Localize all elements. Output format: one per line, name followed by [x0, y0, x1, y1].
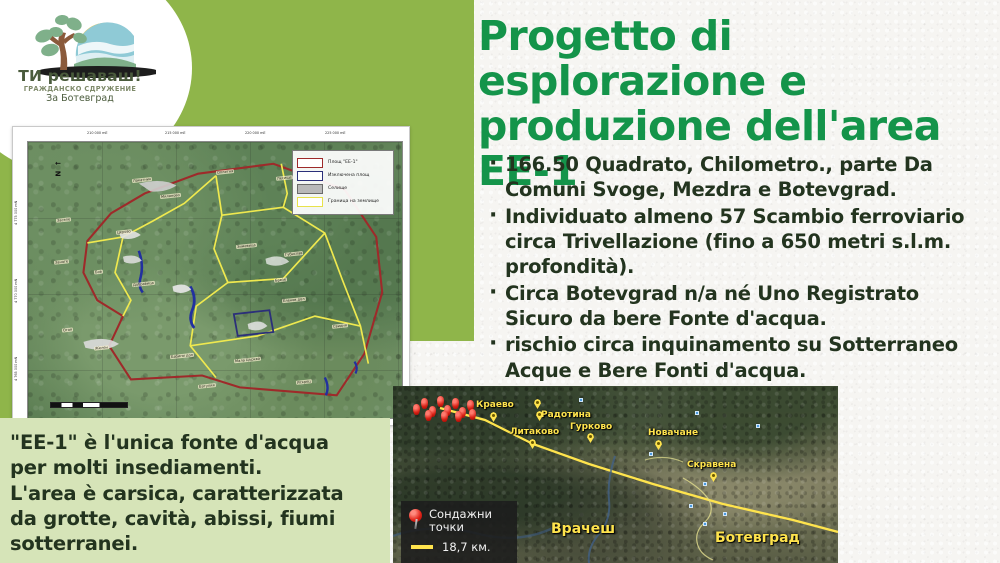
logo-title: ТИ решаваш!: [10, 68, 150, 84]
topographic-map[interactable]: 210 000 mE 215 000 mE 220 000 mE 225 000…: [12, 126, 410, 426]
bullet-item: Circa Botevgrad n/a né Uno Registrato Si…: [487, 281, 987, 332]
map-marker-icon: [703, 522, 707, 526]
sat-place-label: Скравена: [687, 460, 736, 470]
note-line-2: per molti insediamenti.: [10, 455, 378, 480]
legend-label-land-boundary: Граница на землище: [328, 200, 379, 205]
topo-axis-left-1: 4 770 000 mN: [14, 279, 18, 303]
bullet-list: 166.50 Quadrato, Chilometro., parte Da C…: [487, 152, 987, 384]
yellow-line-icon: [411, 545, 433, 549]
slide-canvas: ТИ решаваш! ГРАЖДАНСКО СДРУЖЕНИЕ За Боте…: [0, 0, 1000, 563]
topo-axis-left-2: 4 765 000 mN: [14, 357, 18, 381]
note-line-3: L'area è carsica, caratterizzata: [10, 481, 378, 506]
legend-item-land-boundary: Граница на землище: [297, 197, 389, 207]
legend-swatch-red-outline: [297, 158, 323, 168]
map-marker-icon: [756, 424, 760, 428]
bullet-item: 166.50 Quadrato, Chilometro., parte Da C…: [487, 152, 987, 203]
legend-swatch-yellow-outline: [297, 197, 323, 207]
legend-drilling-points: Сондажни точки: [409, 508, 509, 534]
legend-item-excluded-area: Изключена площ: [297, 171, 389, 181]
water-source-note-panel: "EE-1" è l'unica fonte d'acqua per molti…: [0, 418, 390, 563]
sat-place-label: Гурково: [570, 422, 612, 432]
note-line-4: da grotte, cavità, abissi, fiumi: [10, 506, 378, 531]
map-marker-icon: [649, 452, 653, 456]
sat-place-label: Ботевград: [715, 530, 800, 546]
legend-label-settlement: Селище: [328, 187, 347, 192]
topo-axis-left-0: 4 775 000 mN: [14, 201, 18, 225]
legend-label-area-ee1: Площ "ЕЕ-1": [328, 161, 358, 166]
bullet-item: rischio circa inquinamento su Sotterrane…: [487, 332, 987, 383]
map-marker-icon: [723, 512, 727, 516]
map-marker-icon: [689, 504, 693, 508]
legend-item-area-ee1: Площ "ЕЕ-1": [297, 158, 389, 168]
logo-wordmark: ТИ решаваш! ГРАЖДАНСКО СДРУЖЕНИЕ За Боте…: [10, 68, 150, 104]
legend-item-settlement: Селище: [297, 184, 389, 194]
logo-subtitle-1: ГРАЖДАНСКО СДРУЖЕНИЕ: [10, 86, 150, 93]
topo-map-legend: Площ "ЕЕ-1" Изключена площ Селище Границ…: [292, 150, 394, 215]
topo-axis-top-2: 220 000 mE: [245, 131, 266, 135]
satellite-map[interactable]: Краево Радотина Литаково Гурково Новачан…: [393, 386, 838, 563]
note-line-1: "EE-1" è l'unica fonte d'acqua: [10, 430, 378, 455]
legend-drilling-line2: точки: [429, 520, 464, 534]
map-marker-icon: [579, 398, 583, 402]
legend-label-excluded-area: Изключена площ: [328, 174, 369, 179]
sat-place-label: Радотина: [541, 410, 591, 420]
drilling-points-cluster: [411, 394, 481, 420]
satellite-map-legend: Сондажни точки 18,7 км.: [401, 501, 517, 563]
legend-distance: 18,7 км.: [409, 541, 509, 554]
logo-subtitle-2: За Ботевград: [10, 94, 150, 104]
legend-swatch-gray-fill: [297, 184, 323, 194]
legend-distance-label: 18,7 км.: [442, 541, 491, 554]
bullet-item: Individuato almeno 57 Scambio ferroviari…: [487, 204, 987, 280]
topo-axis-top-3: 225 000 mE: [325, 131, 346, 135]
map-marker-icon: [703, 482, 707, 486]
red-pin-icon: [409, 509, 422, 529]
map-marker-icon: [695, 411, 699, 415]
sat-place-label: Краево: [476, 400, 514, 410]
legend-drilling-points-label: Сондажни точки: [429, 508, 492, 534]
topo-axis-top-0: 210 000 mE: [87, 131, 108, 135]
sat-place-label: Врачеш: [551, 521, 615, 537]
topo-map-canvas: N ↑ Площ "ЕЕ-1" Изключена площ Селище: [27, 141, 403, 419]
north-arrow-icon: N ↑: [55, 159, 63, 176]
sat-place-label: Литаково: [510, 427, 559, 437]
topo-axis-top-1: 215 000 mE: [165, 131, 186, 135]
sat-place-label: Новачане: [648, 428, 698, 438]
legend-swatch-blue-outline: [297, 171, 323, 181]
map-scale-bar: [50, 402, 128, 408]
note-line-5: sotterranei.: [10, 531, 378, 556]
